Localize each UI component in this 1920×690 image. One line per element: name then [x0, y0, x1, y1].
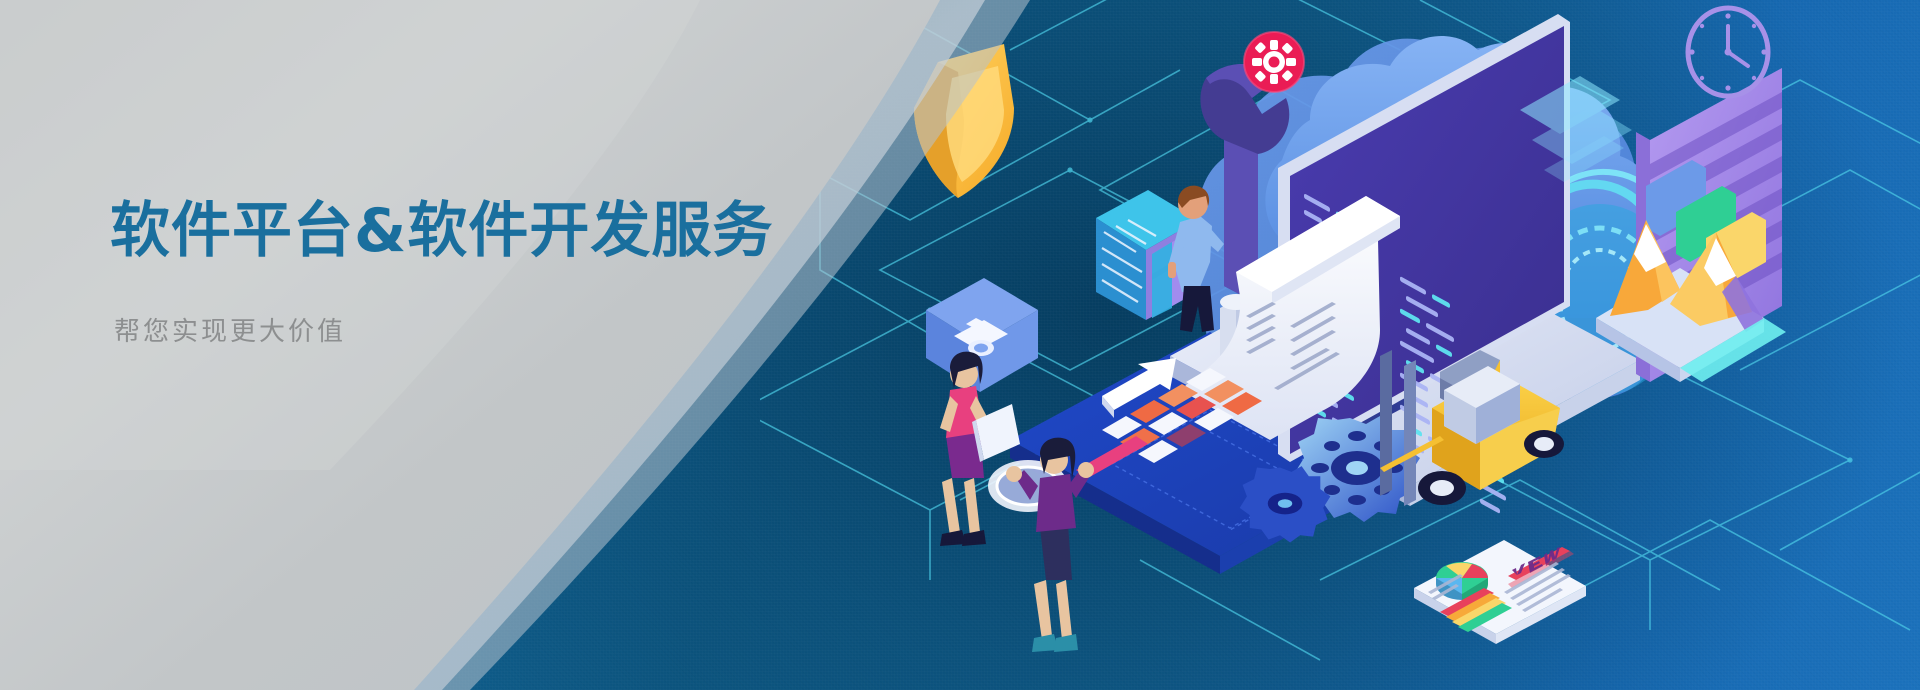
clock-icon: [1688, 8, 1768, 96]
banner-copy: 软件平台&软件开发服务 帮您实现更大价值: [110, 196, 870, 348]
page-subtitle: 帮您实现更大价值: [114, 311, 870, 348]
news-document: [1414, 540, 1586, 644]
page-title: 软件平台&软件开发服务: [110, 196, 870, 267]
hero-banner: 软件平台&软件开发服务 帮您实现更大价值 NEWS: [0, 0, 1920, 690]
gear-badge-icon: [1244, 32, 1304, 92]
